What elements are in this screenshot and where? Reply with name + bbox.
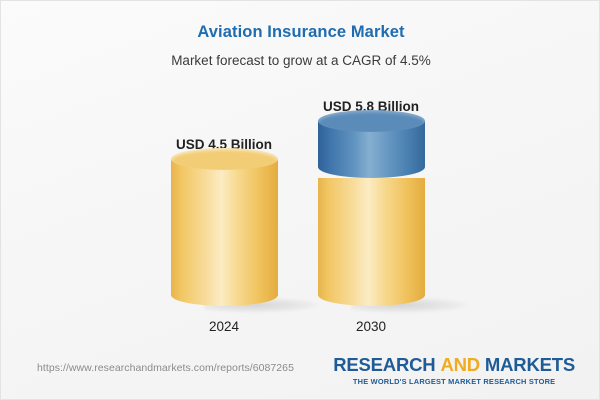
x-axis-label-2024: 2024 bbox=[144, 319, 304, 334]
bar-segment-base-2030 bbox=[318, 178, 425, 306]
source-url-link[interactable]: https://www.researchandmarkets.com/repor… bbox=[37, 362, 294, 374]
logo-tagline: THE WORLD'S LARGEST MARKET RESEARCH STOR… bbox=[333, 377, 575, 386]
bar-segment-body bbox=[318, 178, 425, 306]
chart-plot-area: USD 4.5 Billion 2024 USD 5.8 Billion bbox=[1, 81, 600, 346]
research-and-markets-logo[interactable]: RESEARCHANDMARKETS THE WORLD'S LARGEST M… bbox=[333, 354, 575, 386]
page-subtitle: Market forecast to grow at a CAGR of 4.5… bbox=[1, 53, 600, 68]
page-title: Aviation Insurance Market bbox=[1, 23, 600, 42]
logo-word-research: RESEARCH bbox=[333, 354, 435, 375]
footer: https://www.researchandmarkets.com/repor… bbox=[1, 344, 600, 399]
bar-segment-top-ellipse bbox=[171, 148, 278, 170]
logo-wordmark: RESEARCHANDMARKETS bbox=[333, 354, 575, 376]
bar-segment-base-2024 bbox=[171, 159, 278, 306]
market-forecast-card: Aviation Insurance Market Market forecas… bbox=[0, 0, 600, 400]
bar-segment-top-ellipse bbox=[318, 110, 425, 132]
bar-segment-body bbox=[171, 159, 278, 306]
logo-word-and: AND bbox=[440, 354, 479, 375]
x-axis-label-2030: 2030 bbox=[291, 319, 451, 334]
logo-word-markets: MARKETS bbox=[485, 354, 575, 375]
bar-segment-growth-2030 bbox=[318, 121, 425, 178]
